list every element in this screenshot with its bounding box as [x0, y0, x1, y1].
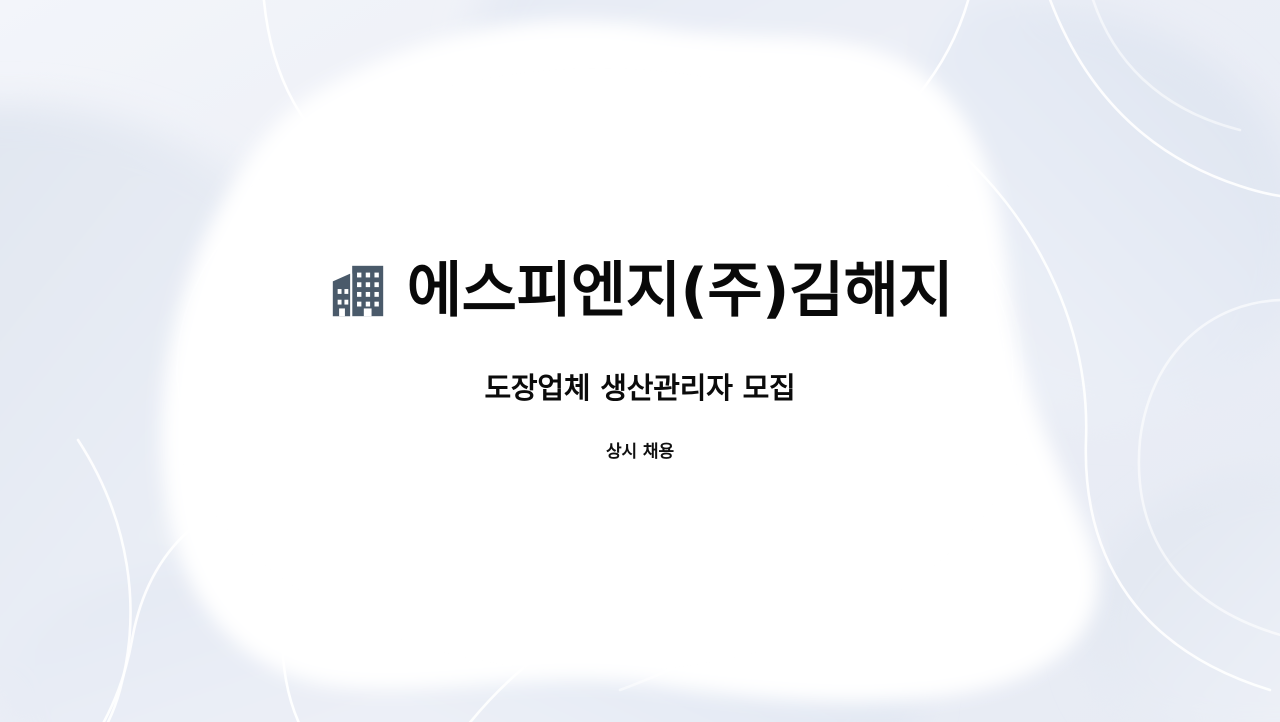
company-title-row: 에스피엔지(주)김해지: [327, 260, 953, 323]
banner-content: 에스피엔지(주)김해지 도장업체 생산관리자 모집 상시 채용: [0, 0, 1280, 722]
office-building-icon: [327, 260, 389, 322]
company-title: 에스피엔지(주)김해지: [407, 260, 953, 323]
job-posting-banner: 에스피엔지(주)김해지 도장업체 생산관리자 모집 상시 채용: [0, 0, 1280, 722]
job-subtitle: 도장업체 생산관리자 모집: [484, 371, 795, 406]
recruitment-type-caption: 상시 채용: [606, 442, 674, 462]
